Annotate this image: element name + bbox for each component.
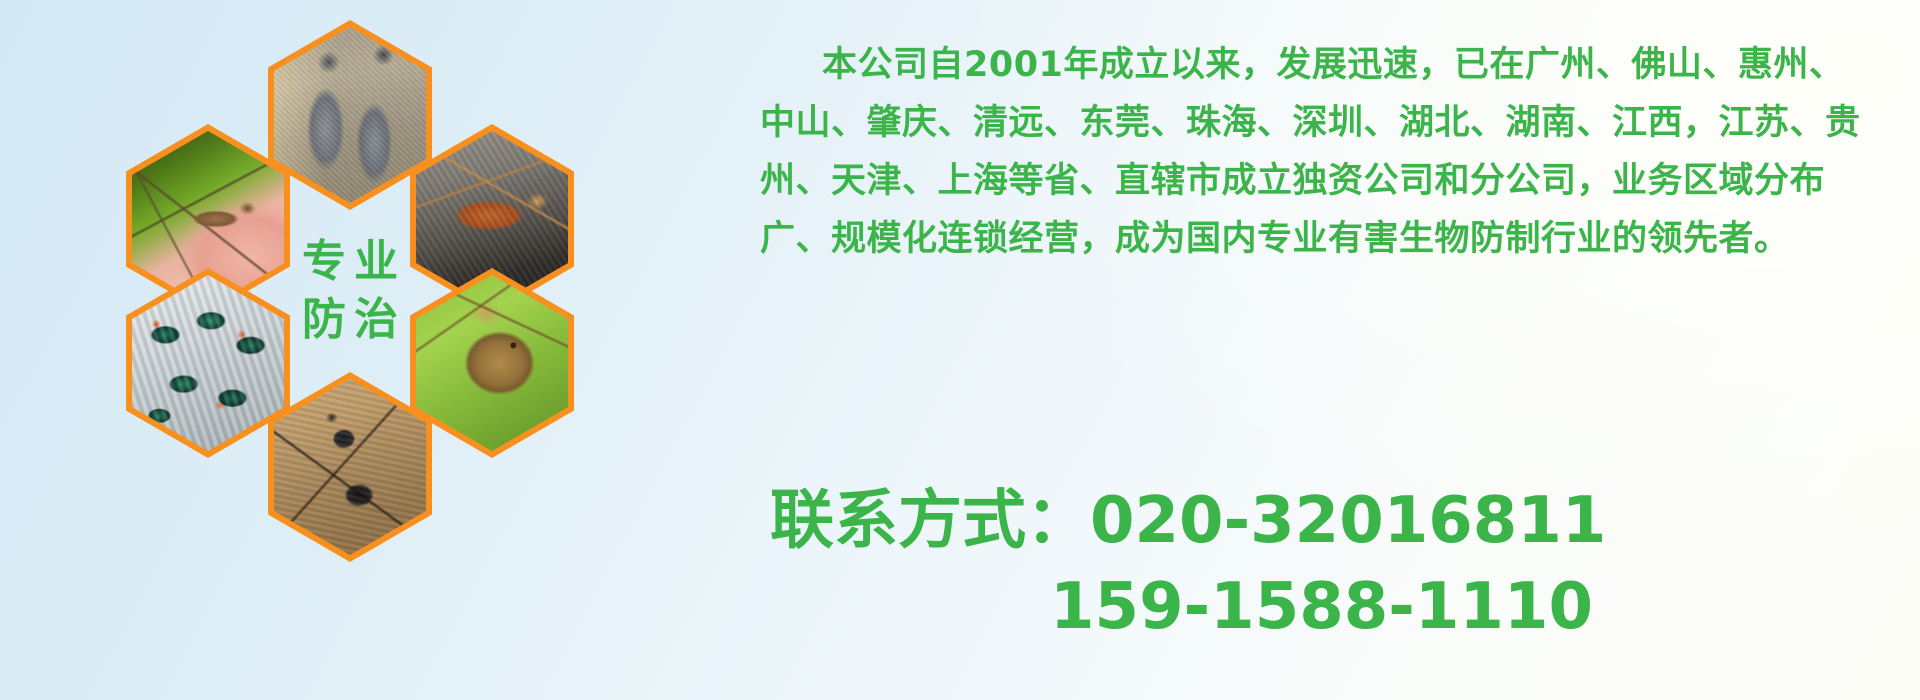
contact-block: 联系方式：020-32016811 159-1588-1110: [770, 478, 1890, 650]
slogan-line-2: 防治: [294, 298, 406, 342]
contact-phone-primary[interactable]: 联系方式：020-32016811: [770, 478, 1890, 564]
ant-photo: [274, 379, 426, 555]
company-description-text: 本公司自2001年成立以来，发展迅速，已在广州、佛山、惠州、中山、肇庆、清远、东…: [760, 36, 1870, 268]
hex-tile-slogan: 专业 防治: [268, 196, 432, 386]
hex-tile-flies[interactable]: [126, 268, 290, 458]
stink-bug-photo: [416, 275, 568, 451]
hex-image-frame: [416, 275, 568, 451]
flies-cluster-photo: [132, 275, 284, 451]
hex-tile-stink-bug[interactable]: [410, 268, 574, 458]
rodents-rats-photo: [274, 27, 426, 203]
hex-image-frame: [274, 379, 426, 555]
hex-tile-rodents[interactable]: [268, 20, 432, 210]
hex-image-frame: [132, 275, 284, 451]
hex-image-frame: [274, 27, 426, 203]
honeycomb-collage: 专业 防治: [96, 6, 596, 558]
slogan-line-1: 专业: [294, 240, 406, 284]
hex-tile-ant[interactable]: [268, 372, 432, 562]
company-description: 本公司自2001年成立以来，发展迅速，已在广州、佛山、惠州、中山、肇庆、清远、东…: [760, 36, 1870, 268]
contact-phone-secondary[interactable]: 159-1588-1110: [770, 564, 1890, 650]
